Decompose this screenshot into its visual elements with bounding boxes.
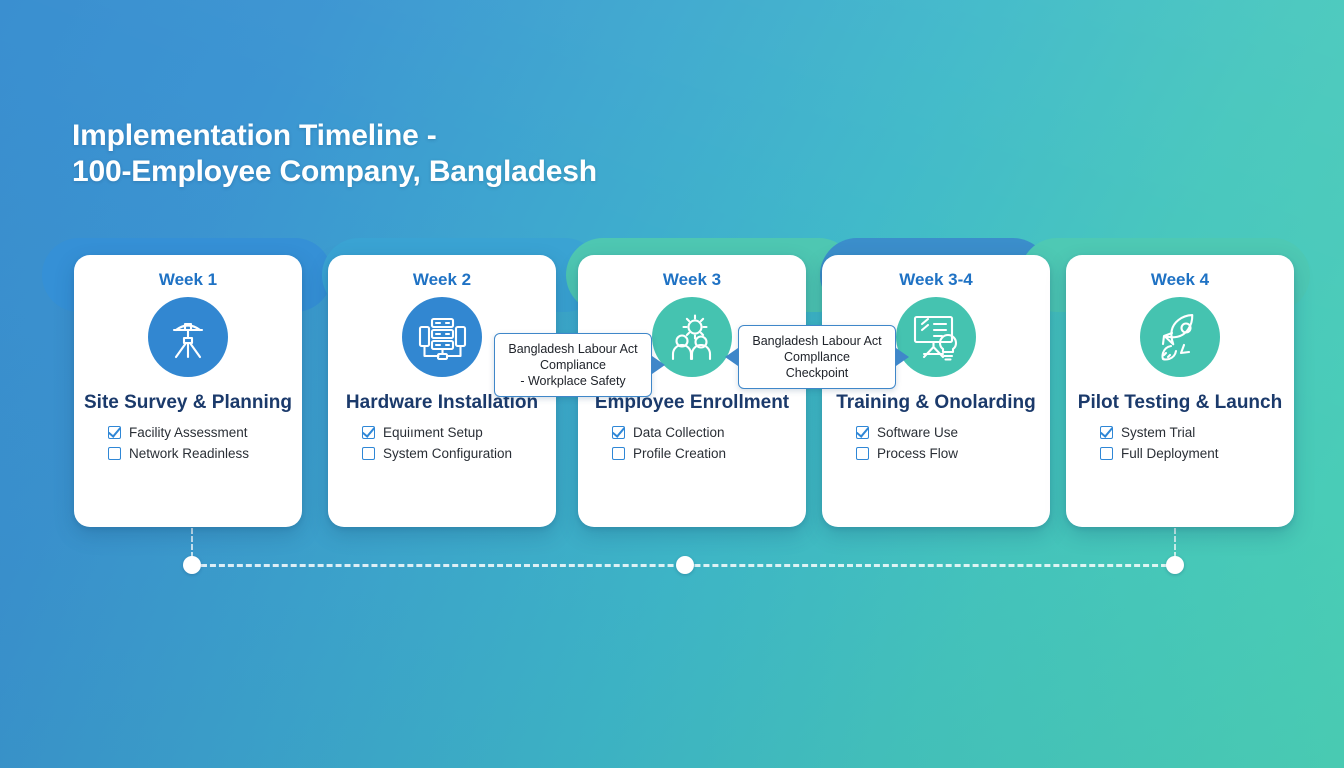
card-step-title: Site Survey & Planning: [76, 391, 300, 415]
infographic-canvas: Implementation Timeline - 100-Employee C…: [0, 0, 1344, 768]
callout-text: Bangladesh Labour Act Compliance - Workp…: [508, 342, 637, 388]
callout-text: Bangladesh Labour Act Compllance Checkpo…: [752, 334, 881, 380]
checkbox-unchecked-icon[interactable]: [108, 447, 121, 460]
checklist-item-label: Software Use: [877, 424, 958, 441]
checklist-item[interactable]: System Configuration: [362, 445, 556, 462]
timeline-card-1[interactable]: Week 1Site Survey & PlanningFacility Ass…: [74, 255, 302, 527]
checklist-item[interactable]: Equiıment Setup: [362, 424, 556, 441]
checklist-item[interactable]: Data Collection: [612, 424, 806, 441]
checkbox-checked-icon[interactable]: [1100, 426, 1113, 439]
checklist-item-label: Data Collection: [633, 424, 725, 441]
card-checklist: Facility AssessmentNetwork Readinless: [74, 424, 302, 466]
card-week-label: Week 1: [159, 269, 217, 291]
timeline-stem: [191, 528, 193, 558]
card-checklist: System TrialFull Deployment: [1066, 424, 1294, 466]
card-checklist: Equiıment SetupSystem Configuration: [328, 424, 556, 466]
card-step-title: Training & Onolarding: [828, 391, 1044, 415]
checkbox-checked-icon[interactable]: [612, 426, 625, 439]
checklist-item-label: Network Readinless: [129, 445, 249, 462]
timeline-card-4[interactable]: Week 3-4Training & OnolardingSoftware Us…: [822, 255, 1050, 527]
checklist-item-label: Full Deployment: [1121, 445, 1219, 462]
checklist-item[interactable]: Network Readinless: [108, 445, 302, 462]
card-checklist: Software UseProcess Flow: [822, 424, 1050, 466]
checklist-item[interactable]: Profile Creation: [612, 445, 806, 462]
checklist-item-label: System Trial: [1121, 424, 1195, 441]
timeline-card-5[interactable]: Week 4Pilot Testing & LaunchSystem Trial…: [1066, 255, 1294, 527]
checkbox-checked-icon[interactable]: [108, 426, 121, 439]
checklist-item[interactable]: Full Deployment: [1100, 445, 1294, 462]
checkbox-checked-icon[interactable]: [362, 426, 375, 439]
card-week-label: Week 3-4: [899, 269, 972, 291]
timeline-node[interactable]: [183, 556, 201, 574]
timeline-node[interactable]: [1166, 556, 1184, 574]
compliance-callout-1: Bangladesh Labour Act Compliance - Workp…: [494, 333, 652, 397]
callout-pointer-left-icon: [725, 348, 738, 366]
checklist-item-label: Equiıment Setup: [383, 424, 483, 441]
checkbox-unchecked-icon[interactable]: [362, 447, 375, 460]
compliance-callout-2: Bangladesh Labour Act Compllance Checkpo…: [738, 325, 896, 389]
page-title: Implementation Timeline - 100-Employee C…: [72, 118, 597, 190]
timeline-node[interactable]: [676, 556, 694, 574]
card-checklist: Data CollectionProfile Creation: [578, 424, 806, 466]
checklist-item-label: System Configuration: [383, 445, 512, 462]
survey-tripod-icon: [148, 297, 228, 377]
checklist-item-label: Process Flow: [877, 445, 958, 462]
checklist-item[interactable]: System Trial: [1100, 424, 1294, 441]
card-week-label: Week 4: [1151, 269, 1209, 291]
timeline-stem: [1174, 528, 1176, 558]
checkbox-unchecked-icon[interactable]: [612, 447, 625, 460]
server-rack-icon: [402, 297, 482, 377]
card-week-label: Week 2: [413, 269, 471, 291]
checklist-item-label: Facility Assessment: [129, 424, 248, 441]
callout-pointer-right-icon: [652, 356, 665, 374]
callout-pointer-right-icon: [896, 348, 909, 366]
card-step-title: Pilot Testing & Launch: [1070, 391, 1290, 415]
checkbox-unchecked-icon[interactable]: [1100, 447, 1113, 460]
checkbox-unchecked-icon[interactable]: [856, 447, 869, 460]
checklist-item-label: Profile Creation: [633, 445, 726, 462]
checklist-item[interactable]: Software Use: [856, 424, 1050, 441]
rocket-icon: [1140, 297, 1220, 377]
checklist-item[interactable]: Facility Assessment: [108, 424, 302, 441]
card-week-label: Week 3: [663, 269, 721, 291]
checkbox-checked-icon[interactable]: [856, 426, 869, 439]
checklist-item[interactable]: Process Flow: [856, 445, 1050, 462]
